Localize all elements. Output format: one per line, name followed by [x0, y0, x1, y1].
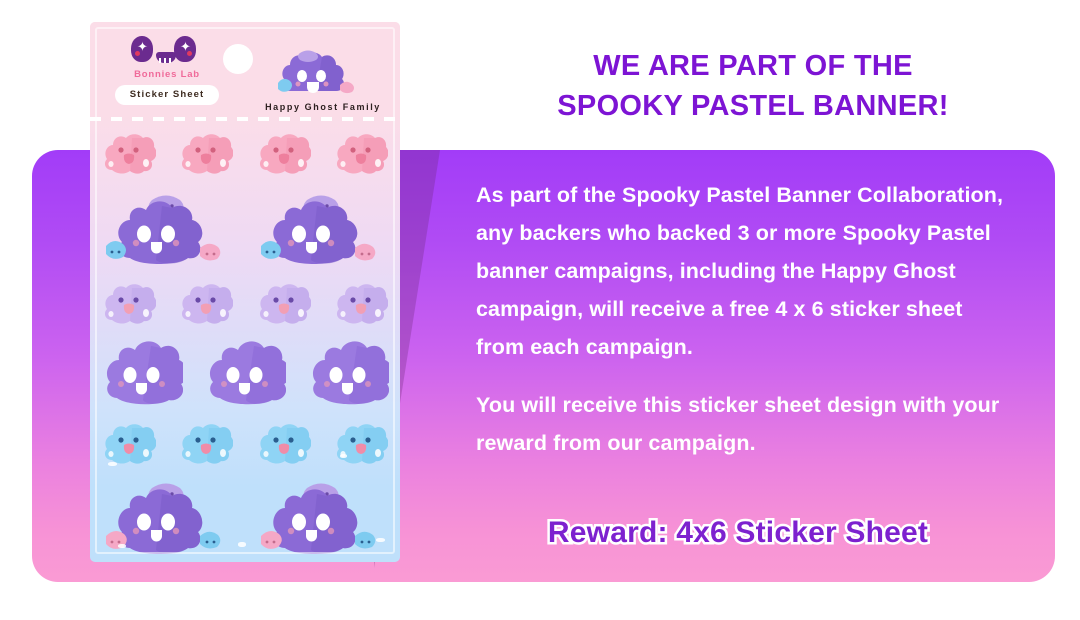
sticker-row-6	[90, 474, 400, 560]
sticker-row-5	[90, 418, 400, 466]
sticker-ghost-small	[334, 420, 388, 466]
reward-label: Reward: 4x6 Sticker Sheet	[448, 516, 1028, 550]
logo-eye-left-icon: ✦	[131, 36, 153, 62]
sticker-row-4	[90, 328, 400, 408]
headline-line-2: SPOOKY PASTEL BANNER!	[448, 86, 1058, 126]
sticker-ghost-group	[100, 184, 236, 270]
confetti-speck	[340, 454, 347, 458]
brand-name: Bonnies Lab	[112, 69, 222, 80]
brand-logo: ✦ ✦ Bonnies Lab Sticker Sheet	[112, 36, 222, 105]
sticker-row-2	[90, 182, 400, 270]
confetti-speck	[376, 538, 385, 542]
sticker-ghost-small	[257, 130, 311, 176]
sticker-row-1	[90, 128, 400, 176]
sticker-ghost-small	[179, 420, 233, 466]
sticker-ghost-small	[334, 280, 388, 326]
sticker-ghost-medium	[204, 330, 286, 408]
blush-dot-icon	[135, 51, 140, 56]
ghost-face-icon: ✦ ✦	[112, 36, 222, 64]
sticker-ghost-small	[102, 280, 156, 326]
confetti-speck	[108, 462, 117, 466]
product-family-label: Happy Ghost Family	[255, 102, 391, 112]
sticker-ghost-small	[102, 420, 156, 466]
hang-hole-icon	[223, 44, 253, 74]
sticker-row-3	[90, 278, 400, 326]
sheet-type-label: Sticker Sheet	[115, 85, 219, 105]
sticker-ghost-small	[179, 130, 233, 176]
sticker-sheet-card: ✦ ✦ Bonnies Lab Sticker Sheet	[90, 22, 400, 562]
body-paragraph-1: As part of the Spooky Pastel Banner Coll…	[476, 176, 1016, 366]
confetti-speck	[238, 542, 246, 547]
headline-line-1: WE ARE PART OF THE	[448, 46, 1058, 86]
sticker-ghost-small	[257, 420, 311, 466]
page-title: WE ARE PART OF THE SPOOKY PASTEL BANNER!	[448, 46, 1058, 126]
sticker-ghost-small	[179, 280, 233, 326]
logo-eye-right-icon: ✦	[174, 36, 196, 62]
sticker-ghost-small	[102, 130, 156, 176]
perforation-line	[90, 117, 400, 121]
body-paragraph-2: You will receive this sticker sheet desi…	[476, 386, 1016, 462]
sticker-ghost-small	[257, 280, 311, 326]
sheet-header: ✦ ✦ Bonnies Lab Sticker Sheet	[90, 22, 400, 100]
logo-mouth-icon	[156, 52, 176, 63]
body-copy: As part of the Spooky Pastel Banner Coll…	[476, 176, 1016, 462]
sticker-ghost-medium	[101, 330, 183, 408]
sticker-ghost-small	[334, 130, 388, 176]
confetti-speck	[118, 544, 126, 548]
blush-dot-icon	[187, 51, 192, 56]
header-mascot-icon	[276, 47, 376, 99]
sticker-ghost-group	[255, 474, 391, 560]
sticker-ghost-group	[255, 184, 391, 270]
sticker-ghost-medium	[307, 330, 389, 408]
